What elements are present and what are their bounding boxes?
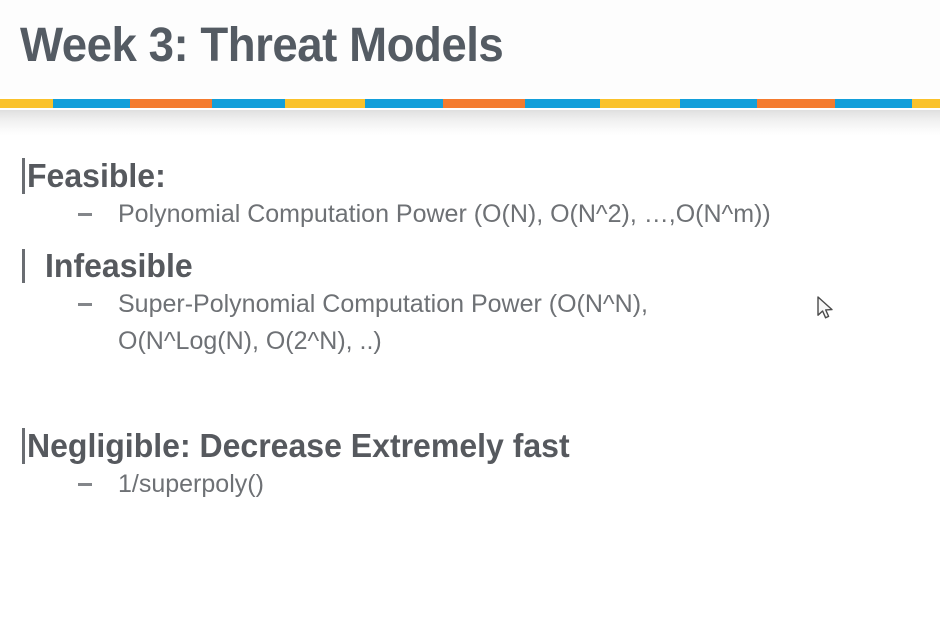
bullet-heading-label: Infeasible <box>45 246 193 286</box>
divider-segment-blue <box>525 99 600 108</box>
color-divider <box>0 96 940 110</box>
page-title: Week 3: Threat Models <box>20 16 503 76</box>
slide-title-band: Week 3: Threat Models <box>0 0 940 96</box>
dash-bullet-icon <box>78 483 92 486</box>
divider-segment-blue <box>365 99 443 108</box>
vertical-bar-bullet-icon <box>22 158 25 194</box>
divider-segment-blue <box>212 99 285 108</box>
divider-segment-yellow <box>600 99 680 108</box>
content-block: Negligible: Decrease Extremely fast1/sup… <box>0 426 940 503</box>
divider-segment-orange <box>130 99 212 108</box>
bullet-heading: Infeasible <box>0 246 940 286</box>
bullet-heading-label: Feasible: <box>27 156 166 196</box>
dash-bullet-icon <box>78 303 92 306</box>
divider-segment-yellow <box>285 99 365 108</box>
sub-bullet-label: 1/superpoly() <box>118 466 264 503</box>
sub-bullet-item: 1/superpoly() <box>0 466 940 503</box>
bullet-heading: Negligible: Decrease Extremely fast <box>0 426 940 466</box>
content-block: Feasible:Polynomial Computation Power (O… <box>0 156 940 233</box>
dash-bullet-icon <box>78 213 92 216</box>
content-block: InfeasibleSuper-Polynomial Computation P… <box>0 246 940 360</box>
sub-bullet-item: Super-Polynomial Computation Power (O(N^… <box>0 286 940 360</box>
bullet-heading: Feasible: <box>0 156 940 196</box>
slide-canvas: Week 3: Threat Models Feasible:Polynomia… <box>0 0 940 618</box>
sub-bullet-label: Super-Polynomial Computation Power (O(N^… <box>118 286 648 360</box>
color-divider-bar <box>0 99 940 108</box>
divider-segment-yellow <box>912 99 940 108</box>
divider-segment-orange <box>443 99 525 108</box>
vertical-bar-bullet-icon <box>22 249 25 283</box>
divider-segment-yellow <box>0 99 53 108</box>
divider-segment-blue <box>680 99 757 108</box>
divider-segment-blue <box>835 99 912 108</box>
sub-bullet-item: Polynomial Computation Power (O(N), O(N^… <box>0 196 940 233</box>
bullet-heading-label: Negligible: Decrease Extremely fast <box>27 426 570 466</box>
sub-bullet-label: Polynomial Computation Power (O(N), O(N^… <box>118 196 771 233</box>
vertical-bar-bullet-icon <box>22 428 25 464</box>
divider-segment-blue <box>53 99 130 108</box>
divider-segment-orange <box>757 99 835 108</box>
slide-body: Feasible:Polynomial Computation Power (O… <box>0 136 940 618</box>
divider-shadow <box>0 110 940 136</box>
